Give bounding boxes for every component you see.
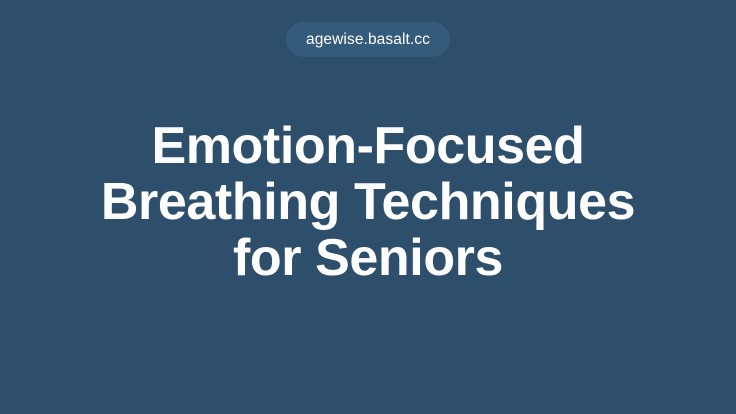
title-line-3: for Seniors (0, 230, 736, 286)
title-slide: agewise.basalt.cc Emotion-Focused Breath… (0, 0, 736, 414)
page-title: Emotion-Focused Breathing Techniques for… (0, 118, 736, 286)
site-domain-badge: agewise.basalt.cc (286, 22, 450, 57)
title-line-1: Emotion-Focused (0, 118, 736, 174)
site-badge-row: agewise.basalt.cc (0, 22, 736, 57)
title-line-2: Breathing Techniques (0, 174, 736, 230)
